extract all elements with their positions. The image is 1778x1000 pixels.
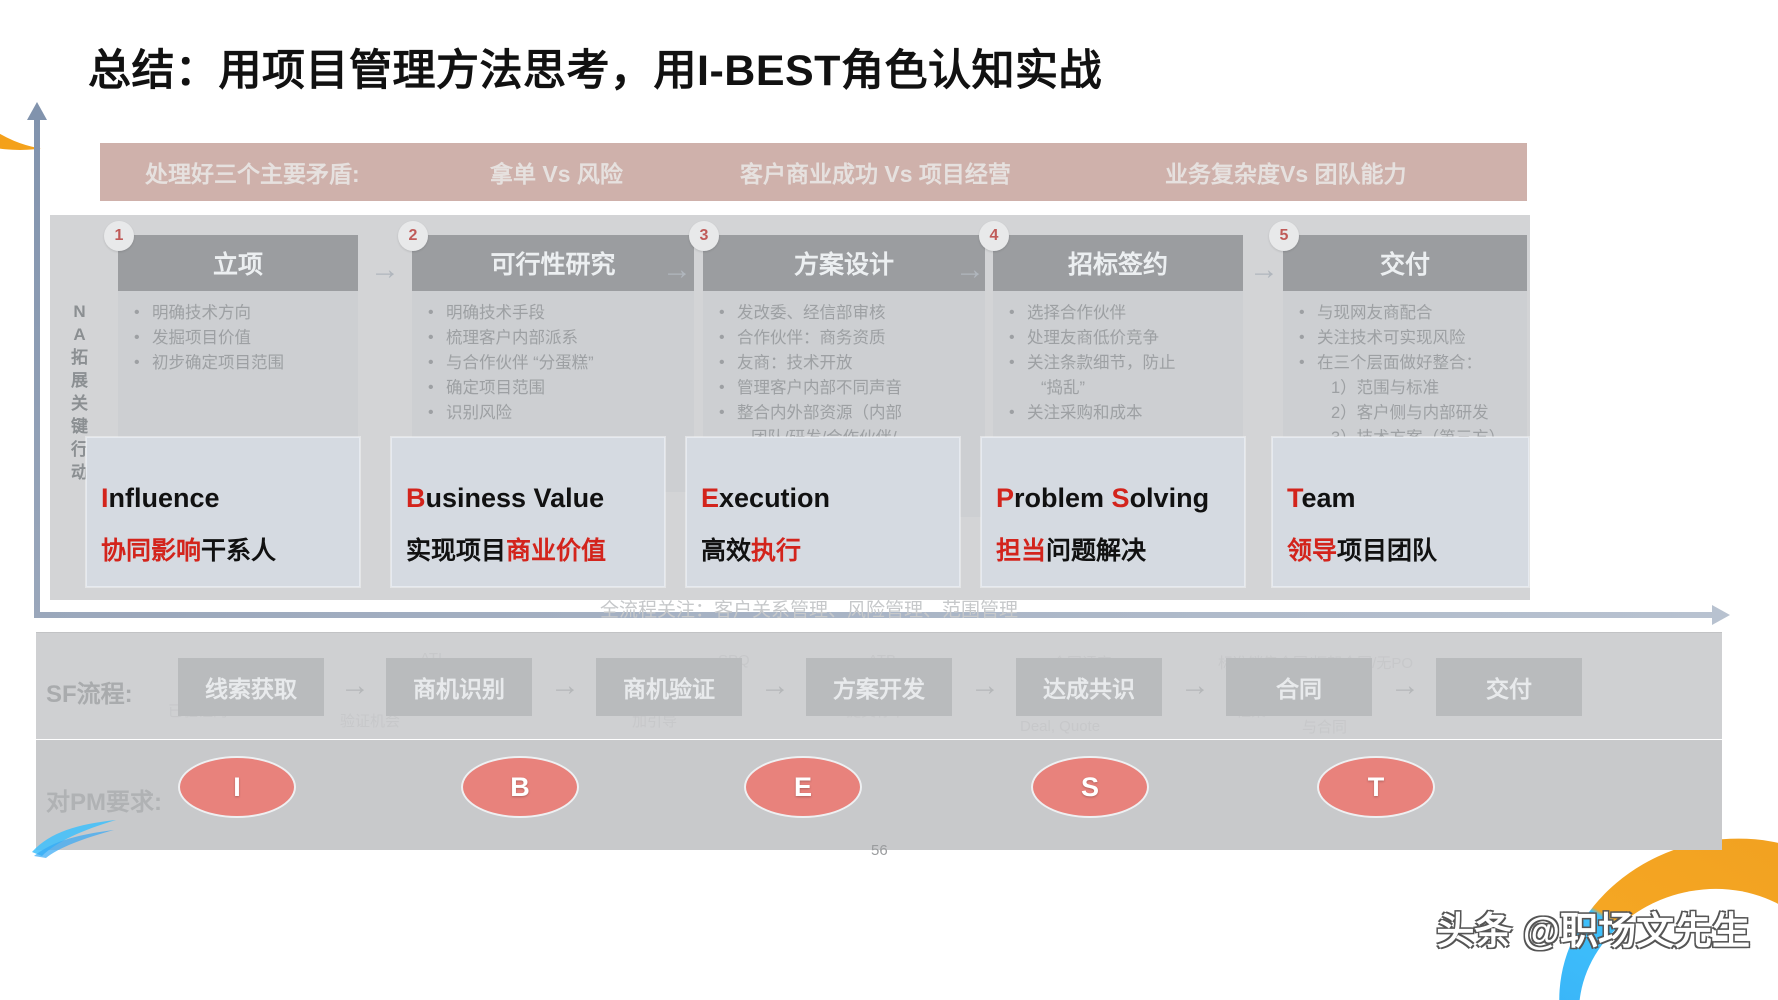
contradictions-label: 处理好三个主要矛盾: xyxy=(145,155,360,189)
pm-requirements-label: 对PM要求: xyxy=(46,782,162,817)
stage-title-4: 招标签约 xyxy=(993,235,1243,291)
stage-bullet-list-4: 选择合作伙伴 处理友商低价竞争 关注条款细节，防止 “捣乱” 关注采购和成本 xyxy=(1001,301,1235,426)
na-label-a: A xyxy=(60,323,100,346)
pm-pill-s[interactable]: S xyxy=(1031,756,1149,818)
stage-bullet: 在三个层面做好整合： xyxy=(1291,351,1519,376)
sf-ghost-and-contract: 与合同 xyxy=(1302,716,1347,737)
contradictions-bar: 处理好三个主要矛盾: 拿单 Vs 风险 客户商业成功 Vs 项目经营 业务复杂度… xyxy=(100,143,1527,201)
ibest-cn-red-i: 协同影响 xyxy=(101,537,201,565)
stage-badge-3: 3 xyxy=(689,221,719,251)
stage-bullet: 处理友商低价竞争 xyxy=(1001,326,1235,351)
sf-arrow-2: → xyxy=(550,672,580,700)
ibest-cn-black-i: 干系人 xyxy=(201,537,276,565)
sf-step-4[interactable]: 方案开发 xyxy=(806,658,952,716)
stage-bullet: 选择合作伙伴 xyxy=(1001,301,1235,326)
stage-title-2: 可行性研究 xyxy=(412,235,694,291)
sf-ghost-deal-quote: Deal, Quote xyxy=(1020,718,1100,735)
ibest-card-problem-solving[interactable]: Problem Solving 担当问题解决 xyxy=(981,437,1245,587)
ibest-en-execution: Execution xyxy=(701,483,945,514)
stage-bullet: 关注技术可实现风险 xyxy=(1291,326,1519,351)
na-label-jian: 键 xyxy=(60,415,100,438)
ibest-en-rest-t: eam xyxy=(1302,483,1356,513)
ibest-cn-execution: 高效执行 xyxy=(701,531,945,567)
ibest-cn-black-b: 实现项目 xyxy=(406,537,506,565)
stage-badge-5: 5 xyxy=(1269,221,1299,251)
stage-title-1: 立项 xyxy=(118,235,358,291)
sf-step-5[interactable]: 达成共识 xyxy=(1016,658,1162,716)
stage-bullet: 识别风险 xyxy=(420,401,686,426)
sf-arrow-1: → xyxy=(340,672,370,700)
ibest-cn-black-e: 高效 xyxy=(701,537,751,565)
ibest-card-business-value[interactable]: Business Value 实现项目商业价值 xyxy=(391,437,665,587)
ibest-initial-s: S xyxy=(1112,483,1130,513)
stage-badge-2: 2 xyxy=(398,221,428,251)
stage-bullet-list-5: 与现网友商配合 关注技术可实现风险 在三个层面做好整合： 1）范围与标准 2）客… xyxy=(1291,301,1519,451)
sf-step-6[interactable]: 合同 xyxy=(1226,658,1372,716)
sf-step-7[interactable]: 交付 xyxy=(1436,658,1582,716)
stage-bullet: 友商：技术开放 xyxy=(711,351,977,376)
stage-bullet: 关注采购和成本 xyxy=(1001,401,1235,426)
stage-bullet: 发掘项目价值 xyxy=(126,326,350,351)
stage-arrow-3-4: → xyxy=(948,258,992,282)
vertical-axis-arrow xyxy=(34,118,40,618)
stage-bullet: 与合作伙伴 “分蛋糕” xyxy=(420,351,686,376)
stage-bullet: 与现网友商配合 xyxy=(1291,301,1519,326)
stage-bullet: 合作伙伴：商务资质 xyxy=(711,326,977,351)
stage-bullet-list-1: 明确技术方向 发掘项目价值 初步确定项目范围 xyxy=(126,301,350,376)
contradiction-item-3: 业务复杂度Vs 团队能力 xyxy=(1165,155,1407,189)
sf-arrow-3: → xyxy=(760,672,790,700)
ibest-initial-t: T xyxy=(1287,483,1302,513)
ibest-cn-red-t: 领导 xyxy=(1287,537,1337,565)
sf-arrow-5: → xyxy=(1180,672,1210,700)
ibest-cn-red-e: 执行 xyxy=(751,537,801,565)
stage-bullet: 梳理客户内部派系 xyxy=(420,326,686,351)
sf-step-1[interactable]: 线索获取 xyxy=(178,658,324,716)
slide-root: 总结：用项目管理方法思考，用I-BEST角色认知实战 处理好三个主要矛盾: 拿单… xyxy=(0,0,1778,1000)
pm-pill-t[interactable]: T xyxy=(1317,756,1435,818)
stage-arrow-4-5: → xyxy=(1242,258,1286,282)
ibest-card-execution[interactable]: Execution 高效执行 xyxy=(686,437,960,587)
na-label-n: N xyxy=(60,300,100,323)
ibest-en-rest-i: nfluence xyxy=(109,483,220,513)
ibest-en-rest-s: roblem Solving xyxy=(1014,483,1209,513)
ibest-en-business-value: Business Value xyxy=(406,483,650,514)
stage-title-5: 交付 xyxy=(1283,235,1527,291)
sf-arrow-4: → xyxy=(970,672,1000,700)
contradiction-item-1: 拿单 Vs 风险 xyxy=(490,155,623,189)
watermark-text: 头条 @职场文先生 xyxy=(1436,900,1750,955)
stage-title-3: 方案设计 xyxy=(703,235,985,291)
ibest-en-influence: Influence xyxy=(101,483,345,514)
stage-bullet: 确定项目范围 xyxy=(420,376,686,401)
ibest-cn-team: 领导项目团队 xyxy=(1287,531,1514,567)
stage-bullet: 整合内外部资源（内部 xyxy=(711,401,977,426)
ibest-cn-black-t: 项目团队 xyxy=(1337,537,1437,565)
ibest-cn-influence: 协同影响干系人 xyxy=(101,531,345,567)
stage-bullet-sub: 2）客户侧与内部研发 xyxy=(1291,401,1519,426)
pm-pill-b[interactable]: B xyxy=(461,756,579,818)
stage-bullet: 发改委、经信部审核 xyxy=(711,301,977,326)
stage-bullet: 管理客户内部不同声音 xyxy=(711,376,977,401)
ibest-cn-problem-solving: 担当问题解决 xyxy=(996,531,1230,567)
page-number: 56 xyxy=(871,842,888,859)
ibest-cn-red-s: 担当 xyxy=(996,537,1046,565)
stage-bullet: 明确技术方向 xyxy=(126,301,350,326)
ibest-en-problem-solving: Problem Solving xyxy=(996,483,1230,514)
na-label-guan: 关 xyxy=(60,392,100,415)
stage-arrow-1-2: → xyxy=(363,258,407,282)
logo-swoosh-icon xyxy=(30,814,120,858)
pm-pill-e[interactable]: E xyxy=(744,756,862,818)
pm-pill-i[interactable]: I xyxy=(178,756,296,818)
ibest-en-rest-e: xecution xyxy=(719,483,830,513)
ibest-en-rest-b: usiness Value xyxy=(426,483,605,513)
na-label-tuo: 拓 xyxy=(60,346,100,369)
ibest-initial-b: B xyxy=(406,483,426,513)
stage-bullet-cont: “捣乱” xyxy=(1001,376,1235,401)
ibest-cn-black-s: 问题解决 xyxy=(1046,537,1146,565)
ibest-initial-p: P xyxy=(996,483,1014,513)
ibest-cn-business-value: 实现项目商业价值 xyxy=(406,531,650,567)
sf-step-2[interactable]: 商机识别 xyxy=(386,658,532,716)
ibest-card-influence[interactable]: Influence 协同影响干系人 xyxy=(86,437,360,587)
stage-bullet-sub: 1）范围与标准 xyxy=(1291,376,1519,401)
sf-step-3[interactable]: 商机验证 xyxy=(596,658,742,716)
stage-bullet: 关注条款细节，防止 xyxy=(1001,351,1235,376)
stage-bullet: 明确技术手段 xyxy=(420,301,686,326)
ibest-en-team: Team xyxy=(1287,483,1514,514)
stage-arrow-2-3: → xyxy=(655,258,699,282)
slide-title: 总结：用项目管理方法思考，用I-BEST角色认知实战 xyxy=(88,36,1102,98)
ibest-cn-red-b: 商业价值 xyxy=(506,537,606,565)
sf-process-label: SF流程: xyxy=(46,674,133,709)
stage-badge-4: 4 xyxy=(979,221,1009,251)
contradiction-item-2: 客户商业成功 Vs 项目经营 xyxy=(740,155,1011,189)
stage-bullet-list-2: 明确技术手段 梳理客户内部派系 与合作伙伴 “分蛋糕” 确定项目范围 识别风险 xyxy=(420,301,686,426)
ibest-initial-i: I xyxy=(101,483,109,513)
full-process-note: 全流程关注：客户关系管理、风险管理、范围管理 xyxy=(600,595,1018,622)
na-label-zhan: 展 xyxy=(60,369,100,392)
stage-bullet: 初步确定项目范围 xyxy=(126,351,350,376)
ibest-initial-e: E xyxy=(701,483,719,513)
sf-arrow-6: → xyxy=(1390,672,1420,700)
ibest-card-team[interactable]: Team 领导项目团队 xyxy=(1272,437,1529,587)
stage-badge-1: 1 xyxy=(104,221,134,251)
